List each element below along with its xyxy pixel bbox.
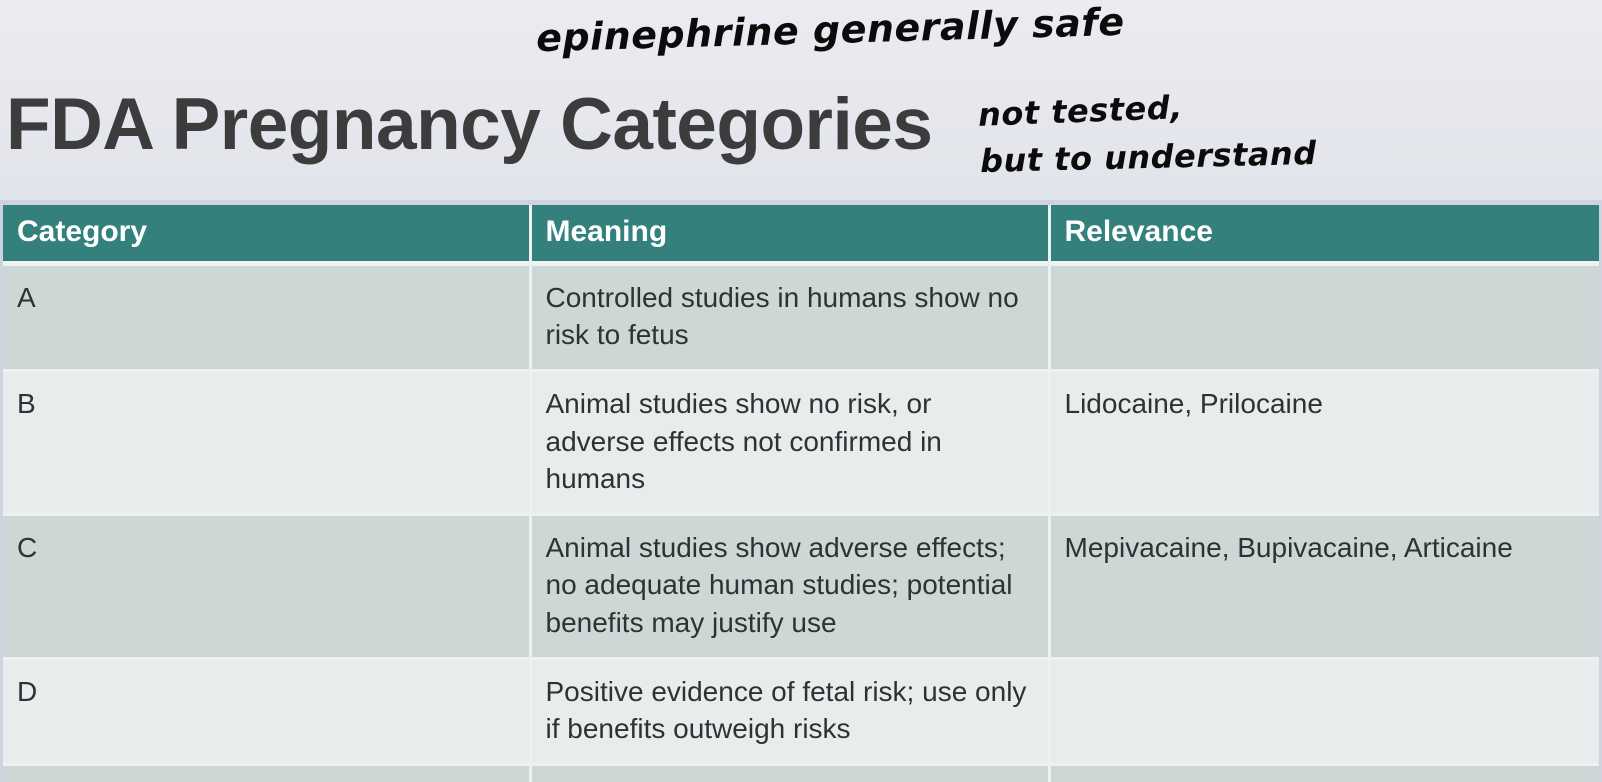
table-row: B Animal studies show no risk, or advers…	[3, 371, 1599, 515]
fda-pregnancy-table: Category Meaning Relevance A Controlled …	[3, 205, 1599, 782]
cell-relevance	[1049, 765, 1599, 782]
cell-meaning: Controlled studies in humans show no ris…	[530, 264, 1049, 371]
annotation-not-tested-line-2: but to understand	[980, 134, 1317, 180]
table-body: A Controlled studies in humans show no r…	[3, 264, 1599, 782]
page-title: FDA Pregnancy Categories	[6, 88, 932, 161]
cell-meaning: Contraindicated in pregnancy; risks clea…	[530, 765, 1049, 782]
table-row: C Animal studies show adverse effects; n…	[3, 515, 1599, 659]
column-header-meaning: Meaning	[530, 205, 1049, 264]
annotation-epinephrine: epinephrine generally safe	[536, 0, 1126, 60]
cell-relevance: Mepivacaine, Bupivacaine, Articaine	[1049, 515, 1599, 659]
table-row: A Controlled studies in humans show no r…	[3, 264, 1599, 371]
fda-pregnancy-table-container: Category Meaning Relevance A Controlled …	[0, 200, 1602, 782]
cell-meaning: Animal studies show adverse effects; no …	[530, 515, 1049, 659]
table-header-row: Category Meaning Relevance	[3, 205, 1599, 264]
slide-header-band: FDA Pregnancy Categories epinephrine gen…	[0, 0, 1602, 200]
cell-relevance	[1049, 658, 1599, 764]
cell-meaning: Positive evidence of fetal risk; use onl…	[530, 658, 1049, 764]
cell-category: A	[3, 264, 530, 371]
column-header-relevance: Relevance	[1049, 205, 1599, 264]
cell-category: D	[3, 658, 530, 764]
table-header: Category Meaning Relevance	[3, 205, 1599, 264]
annotation-not-tested-line-1: not tested,	[977, 88, 1183, 134]
cell-category: C	[3, 515, 530, 659]
cell-meaning: Animal studies show no risk, or adverse …	[530, 371, 1049, 515]
table-row: D Positive evidence of fetal risk; use o…	[3, 658, 1599, 764]
cell-category: X	[3, 765, 530, 782]
column-header-category: Category	[3, 205, 530, 264]
cell-category: B	[3, 371, 530, 515]
table-row: X Contraindicated in pregnancy; risks cl…	[3, 765, 1599, 782]
cell-relevance: Lidocaine, Prilocaine	[1049, 371, 1599, 515]
cell-relevance	[1049, 264, 1599, 371]
slide-canvas: FDA Pregnancy Categories epinephrine gen…	[0, 0, 1602, 782]
